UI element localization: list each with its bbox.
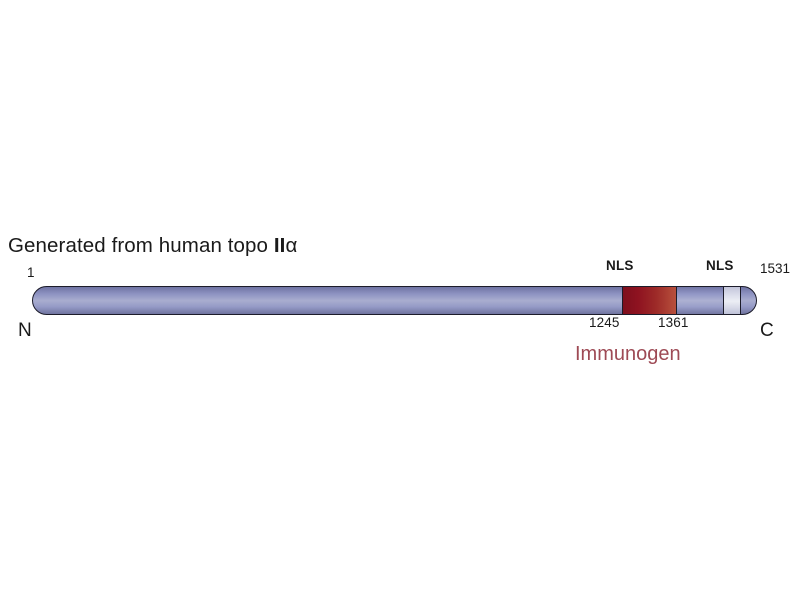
figure-title-numeral: II <box>274 234 286 257</box>
immunogen-end-label: 1361 <box>658 315 688 330</box>
immunogen-start-label: 1245 <box>589 315 619 330</box>
residue-start-label: 1 <box>27 265 35 280</box>
n-terminus-label: N <box>18 320 32 342</box>
residue-end-label: 1531 <box>760 261 790 276</box>
nls-2-label: NLS <box>706 258 734 273</box>
protein-domain-figure: Generated from human topo IIα 1 1531 NLS… <box>0 0 800 600</box>
immunogen-caption: Immunogen <box>575 343 681 366</box>
nls-1-label: NLS <box>606 258 634 273</box>
c-terminus-label: C <box>760 320 774 342</box>
figure-title: Generated from human topo IIα <box>8 234 297 258</box>
nls-2-domain-segment <box>723 287 741 314</box>
spacer-segment <box>677 287 723 314</box>
protein-backbone-bar <box>32 286 757 315</box>
figure-title-greek: α <box>285 234 297 257</box>
figure-title-prefix: Generated from human topo <box>8 234 274 257</box>
immunogen-domain-segment <box>622 287 677 314</box>
protein-bar-outline <box>32 286 757 315</box>
